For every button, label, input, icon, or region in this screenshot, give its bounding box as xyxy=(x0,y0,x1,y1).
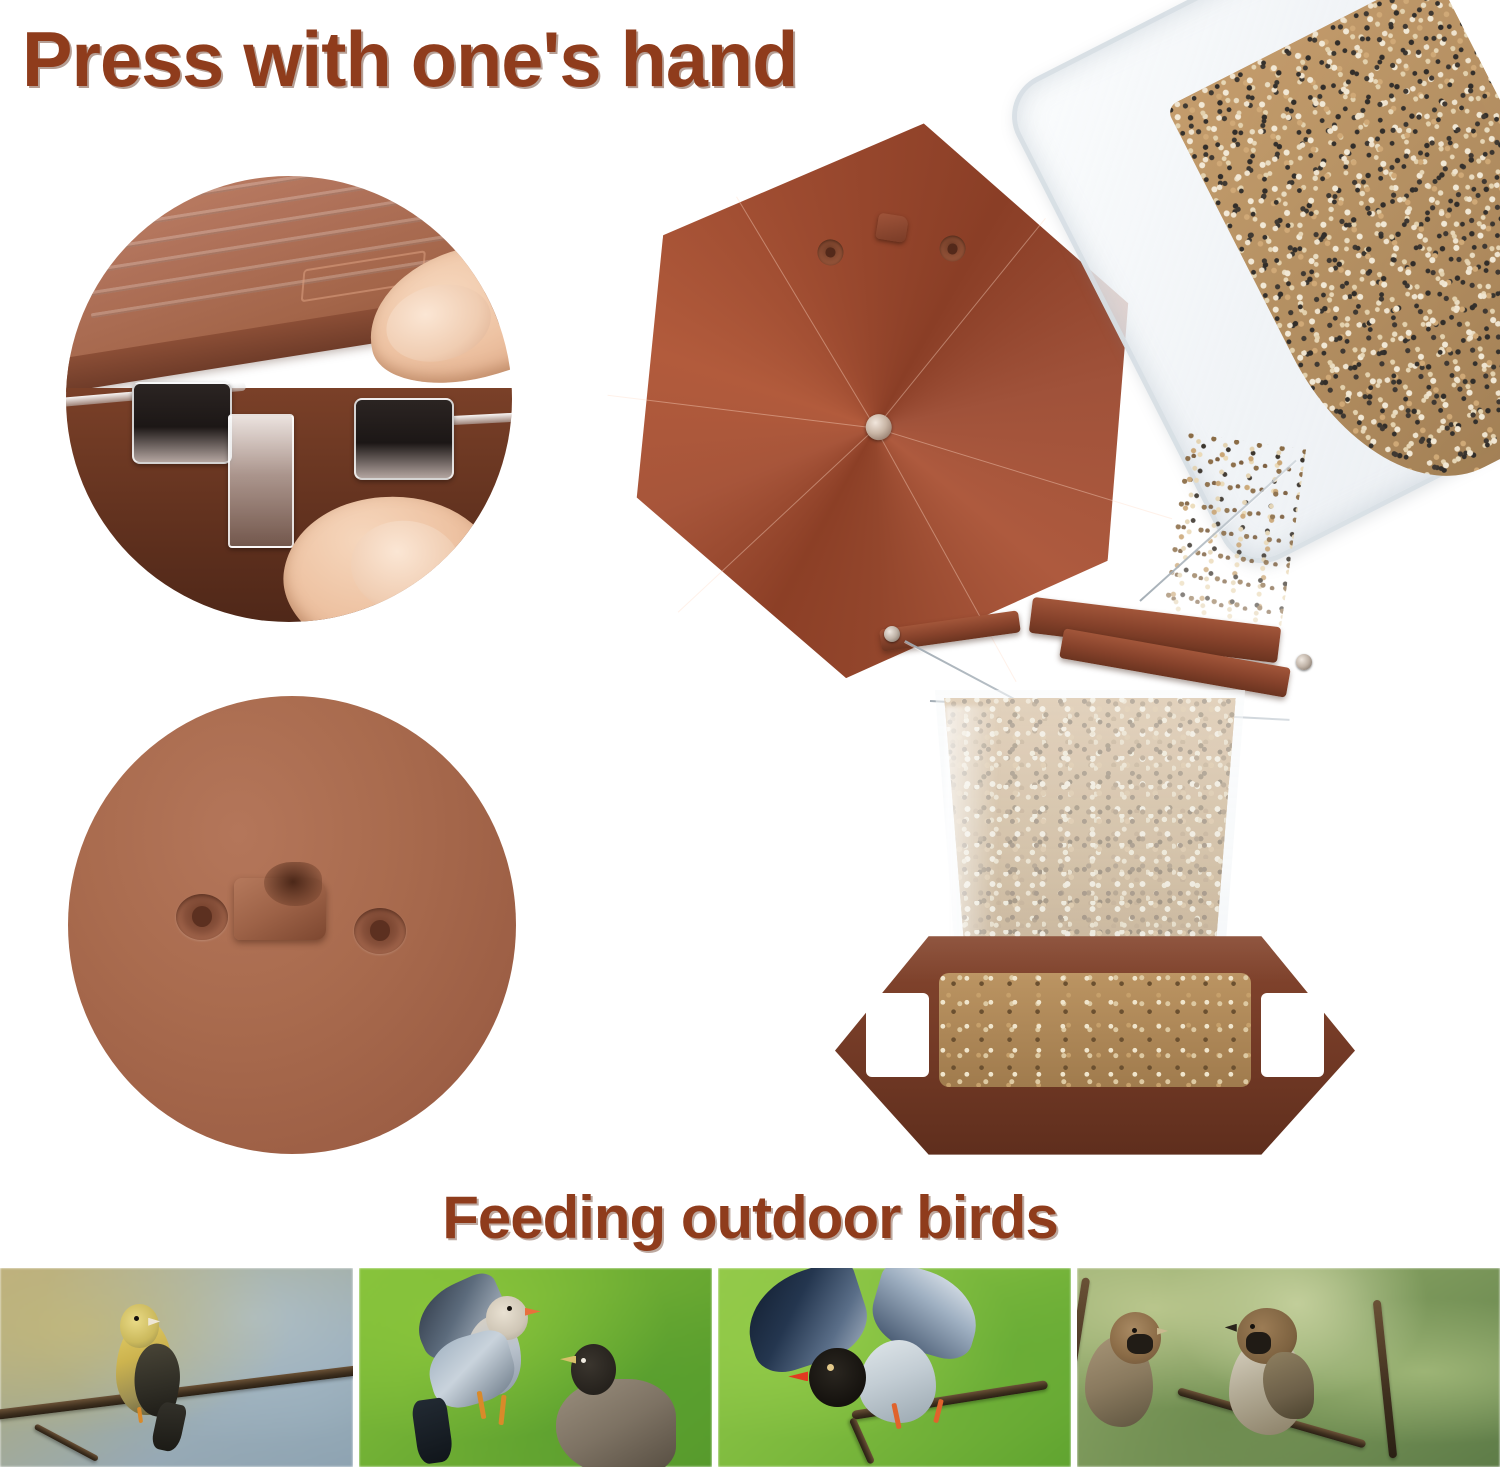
ring-hole-right xyxy=(354,908,406,954)
bird-eye xyxy=(507,1306,512,1311)
bird-eye-right xyxy=(1250,1324,1255,1329)
bird-eye xyxy=(827,1364,834,1371)
roof-latch-nub xyxy=(875,213,909,243)
bird-body-2 xyxy=(556,1379,676,1467)
latch-underside-detail-photo xyxy=(68,696,516,1154)
page-subcaption: Feeding outdoor birds xyxy=(0,1183,1500,1252)
bird-eye-2 xyxy=(581,1358,586,1363)
plastic-clip-center xyxy=(228,414,294,548)
bird-photo-blue-magpie xyxy=(718,1268,1071,1467)
latch-recess-shadow xyxy=(264,862,322,906)
bird-photo-starlings xyxy=(359,1268,712,1467)
bird-photo-strip xyxy=(0,1268,1500,1467)
plastic-clip-left xyxy=(132,382,232,464)
plastic-clip-right xyxy=(354,398,454,480)
hexagonal-feeding-tray xyxy=(835,905,1355,1165)
bird-eye xyxy=(134,1316,139,1321)
product-feature-image: Press with one's hand xyxy=(0,0,1500,1467)
hinge-screw-right xyxy=(1296,654,1312,670)
bird-head xyxy=(120,1304,159,1348)
ring-hole-left xyxy=(176,894,228,940)
bird-head xyxy=(809,1348,865,1408)
bird-photo-greenfinch xyxy=(0,1268,353,1467)
bird-photo-tree-sparrows xyxy=(1077,1268,1500,1467)
tray-rim-highlight xyxy=(835,905,1355,1165)
bird-eye-left xyxy=(1132,1328,1137,1333)
bird-cheek-patch-left xyxy=(1127,1334,1152,1354)
press-with-hand-detail-photo xyxy=(66,176,512,622)
bird-cheek-patch-right xyxy=(1246,1332,1271,1354)
hinge-screw-left xyxy=(884,626,900,642)
